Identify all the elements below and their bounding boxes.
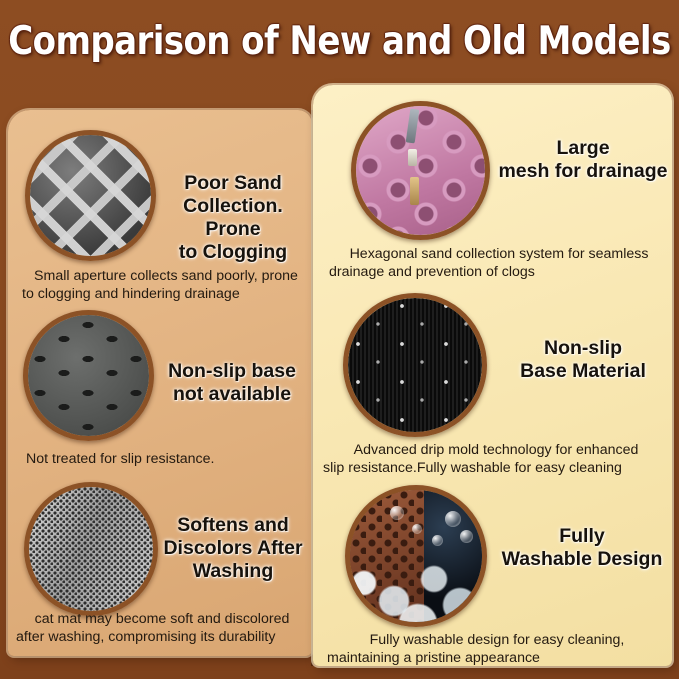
- new-nonslip-base-photo: [343, 293, 487, 437]
- title-banner: Comparison of New and Old Models: [0, 0, 679, 82]
- caption-line: to clogging and hindering drainage: [22, 285, 310, 303]
- old-grid-mesh-photo: [25, 130, 156, 261]
- foam-layer: [350, 553, 482, 622]
- left-item-3-caption: cat mat may become soft and discolored a…: [16, 610, 308, 646]
- old-fine-mesh-photo: [24, 482, 158, 616]
- right-item-1-caption: Hexagonal sand collection system for sea…: [329, 245, 669, 281]
- black-weave-texture: [348, 298, 482, 432]
- bubble: [390, 506, 404, 520]
- old-flat-base-photo: [23, 310, 154, 441]
- left-item-1-caption: Small aperture collects sand poorly, pro…: [22, 267, 310, 303]
- page-title: Comparison of New and Old Models: [8, 19, 670, 64]
- new-washable-bubbles-photo: [345, 485, 487, 627]
- debris-white: [408, 149, 417, 166]
- right-item-3-caption: Fully washable design for easy cleaning,…: [327, 631, 667, 667]
- left-item-2-caption: Not treated for slip resistance.: [26, 450, 306, 468]
- caption-line: drainage and prevention of clogs: [329, 263, 669, 281]
- heading-line: mesh for drainage: [493, 160, 673, 183]
- caption-line: slip resistance.Fully washable for easy …: [323, 459, 669, 477]
- caption-line: Hexagonal sand collection system for sea…: [329, 245, 669, 263]
- heading-line: Non-slip base: [156, 360, 308, 383]
- right-panel-new-model: Large mesh for drainage Hexagonal sand c…: [313, 85, 672, 666]
- bubble: [432, 535, 443, 546]
- caption-line: cat mat may become soft and discolored: [16, 610, 308, 628]
- heading-line: Fully: [497, 525, 667, 548]
- heading-line: Non-slip: [501, 337, 665, 360]
- caption-line: Fully washable design for easy cleaning,: [327, 631, 667, 649]
- new-hexagonal-mesh-photo: [351, 101, 490, 240]
- oval-dot-texture: [28, 315, 149, 436]
- infographic-root: Comparison of New and Old Models Poor Sa…: [0, 0, 679, 679]
- caption-line: Advanced drip mold technology for enhanc…: [323, 441, 669, 459]
- heading-line: Softens and: [160, 514, 306, 537]
- debris-tan: [410, 177, 419, 205]
- right-item-2-heading: Non-slip Base Material: [501, 337, 665, 383]
- left-item-1-heading: Poor Sand Collection. Prone to Clogging: [158, 172, 308, 264]
- left-item-3-heading: Softens and Discolors After Washing: [160, 514, 306, 583]
- left-item-2-heading: Non-slip base not available: [156, 360, 308, 406]
- bubble: [460, 530, 473, 543]
- heading-line: Collection. Prone: [158, 195, 308, 241]
- caption-line: maintaining a pristine appearance: [327, 649, 667, 667]
- heading-line: not available: [156, 383, 308, 406]
- heading-line: Discolors After: [160, 537, 306, 560]
- caption-line: after washing, compromising its durabili…: [16, 628, 308, 646]
- washing-bubbles-texture: [350, 490, 482, 622]
- caption-line: Small aperture collects sand poorly, pro…: [22, 267, 310, 285]
- heading-line: Base Material: [501, 360, 665, 383]
- heading-line: to Clogging: [158, 241, 308, 264]
- debris-metal: [405, 108, 419, 143]
- right-item-1-heading: Large mesh for drainage: [493, 137, 673, 183]
- right-item-2-caption: Advanced drip mold technology for enhanc…: [323, 441, 669, 477]
- fine-mesh-texture: [29, 487, 153, 611]
- left-panel-old-model: Poor Sand Collection. Prone to Clogging …: [8, 110, 312, 656]
- heading-line: Washable Design: [497, 548, 667, 571]
- heading-line: Large: [493, 137, 673, 160]
- heading-line: Poor Sand: [158, 172, 308, 195]
- hexagonal-mesh-texture: [356, 106, 485, 235]
- grid-mesh-texture: [30, 135, 151, 256]
- heading-line: Washing: [160, 560, 306, 583]
- caption-line: Not treated for slip resistance.: [26, 450, 306, 468]
- right-item-3-heading: Fully Washable Design: [497, 525, 667, 571]
